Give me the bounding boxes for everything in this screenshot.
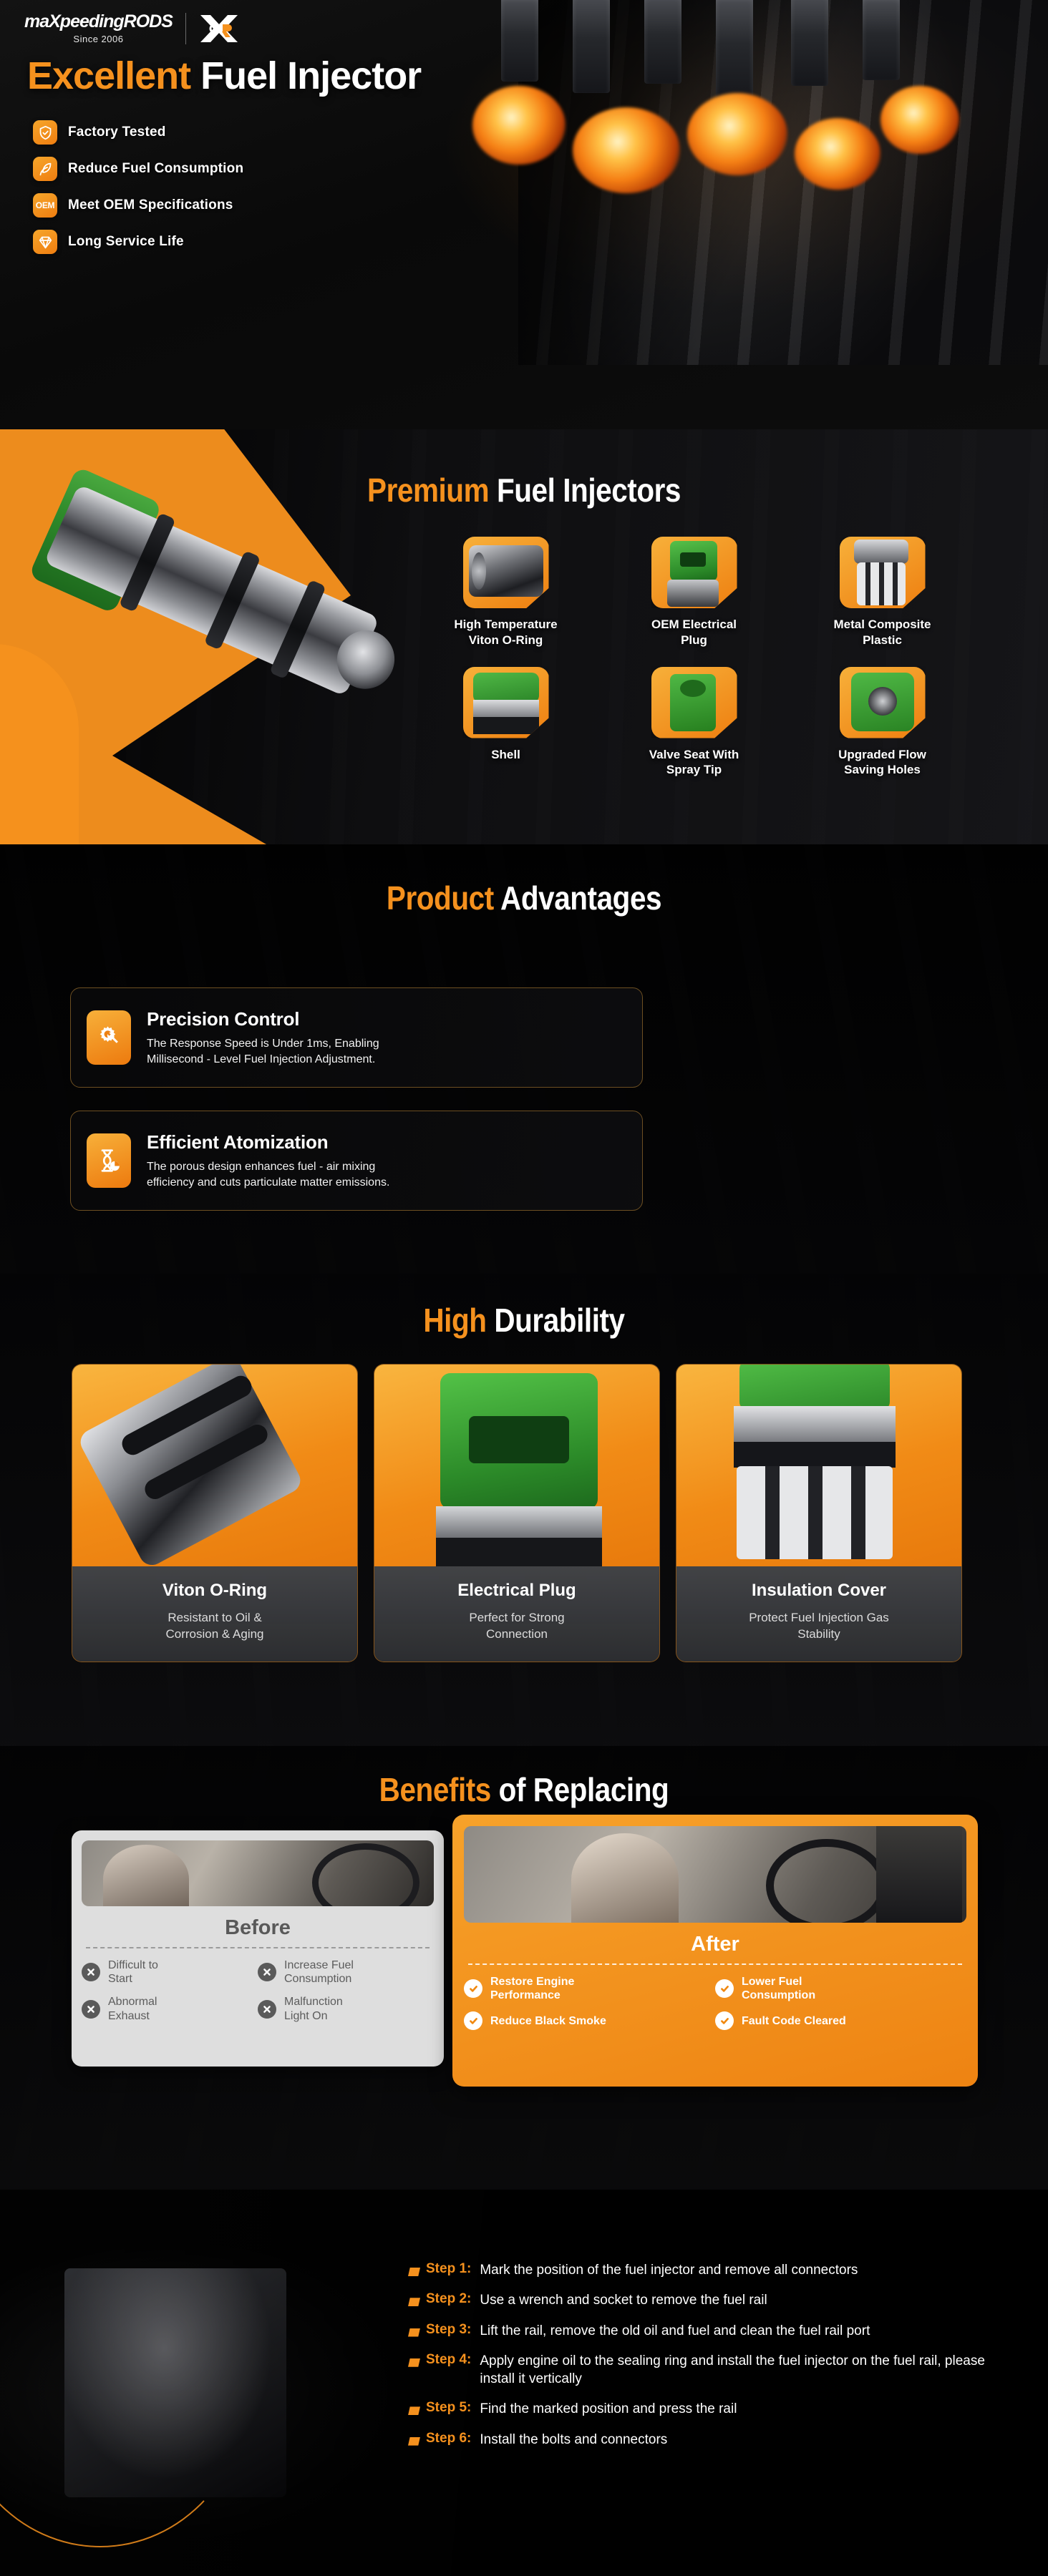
- premium-thumb-item: Upgraded FlowSaving Holes: [806, 667, 959, 779]
- after-item: Reduce Black Smoke: [464, 2011, 715, 2030]
- premium-thumb-item: Metal CompositePlastic: [806, 537, 959, 648]
- page-title: Excellent Fuel Injector: [27, 54, 421, 98]
- premium-thumb-label: Metal CompositePlastic: [806, 617, 959, 648]
- oem-badge-icon: OEM: [33, 193, 57, 218]
- flame-decor: [687, 93, 787, 175]
- premium-thumb-label: OEM ElectricalPlug: [618, 617, 770, 648]
- step-flag-icon: [408, 2406, 420, 2415]
- advantages-title-highlight: Product: [387, 879, 494, 917]
- plug-thumb-icon: [651, 537, 737, 608]
- durability-card-body: Insulation Cover Protect Fuel Injection …: [676, 1566, 961, 1662]
- premium-thumb-label: High TemperatureViton O-Ring: [430, 617, 582, 648]
- durability-card: Electrical Plug Perfect for Strong Conne…: [374, 1364, 660, 1662]
- before-card: Before Difficult toStart Increas: [72, 1830, 444, 2067]
- durability-card: Insulation Cover Protect Fuel Injection …: [676, 1364, 962, 1662]
- durability-text-line2: Corrosion & Aging: [82, 1626, 347, 1643]
- after-item-text: Restore EnginePerformance: [490, 1975, 574, 2002]
- brand-logo-text: maXpeedingRODS: [24, 13, 173, 31]
- frustrated-driver-photo: [82, 1840, 434, 1906]
- installation-step: Step 5: Find the marked position and pre…: [408, 2400, 1002, 2418]
- benefits-title-highlight: Benefits: [379, 1771, 491, 1808]
- hourglass-chart-icon: [87, 1133, 131, 1188]
- durability-card-row: Viton O-Ring Resistant to Oil & Corrosio…: [72, 1364, 962, 1662]
- step-flag-icon: [408, 2358, 420, 2367]
- oring-photo: [72, 1365, 357, 1566]
- hero-feature-label: Long Service Life: [68, 234, 184, 250]
- check-circle-icon: [715, 1979, 734, 1998]
- step-flag-icon: [408, 2328, 420, 2337]
- durability-text-line2: Stability: [686, 1626, 951, 1643]
- brand-logo-since: Since 2006: [24, 34, 173, 44]
- advantage-text-line2: efficiency and cuts particulate matter e…: [147, 1175, 389, 1191]
- step-text: Find the marked position and press the r…: [480, 2400, 737, 2418]
- advantage-text-line2: Millisecond - Level Fuel Injection Adjus…: [147, 1052, 379, 1068]
- benefits-section-title: Benefits of Replacing: [63, 1770, 985, 1809]
- step-number: Step 4:: [426, 2352, 471, 2368]
- premium-thumb-label: Valve Seat WithSpray Tip: [618, 747, 770, 779]
- step-text: Use a wrench and socket to remove the fu…: [480, 2291, 767, 2309]
- durability-card-body: Electrical Plug Perfect for Strong Conne…: [374, 1566, 659, 1662]
- step-text: Install the bolts and connectors: [480, 2431, 667, 2449]
- premium-thumb-item: OEM ElectricalPlug: [618, 537, 770, 648]
- shell-thumb-icon: [463, 667, 549, 738]
- durability-card: Viton O-Ring Resistant to Oil & Corrosio…: [72, 1364, 358, 1662]
- before-item-text: Increase FuelConsumption: [284, 1958, 354, 1986]
- piston-decor: [501, 0, 538, 82]
- after-heading: After: [464, 1933, 966, 1956]
- cross-circle-icon: [82, 1963, 100, 1981]
- step-text: Mark the position of the fuel injector a…: [480, 2261, 858, 2279]
- durability-section-title: High Durability: [63, 1301, 985, 1340]
- before-item: MalfunctionLight On: [258, 1995, 434, 2022]
- hero-feature-label: Meet OEM Specifications: [68, 197, 233, 213]
- happy-driver-photo: [464, 1826, 966, 1923]
- installation-section: Step 1: Mark the position of the fuel in…: [0, 2190, 1048, 2576]
- after-item-text: Lower FuelConsumption: [742, 1975, 815, 2002]
- durability-section: High Durability Viton O-Ring Resistant t…: [0, 1274, 1048, 1746]
- cross-circle-icon: [82, 2000, 100, 2019]
- before-item-text: MalfunctionLight On: [284, 1995, 343, 2022]
- hero-feature-item: Reduce Fuel Consumption: [33, 157, 243, 181]
- premium-thumb-grid: High TemperatureViton O-Ring OEM Electri…: [430, 537, 959, 796]
- advantages-section-title: Product Advantages: [63, 879, 985, 917]
- check-circle-icon: [464, 2011, 482, 2030]
- flame-decor: [880, 86, 959, 154]
- oring-thumb-icon: [463, 537, 549, 608]
- premium-thumb-item: Shell: [430, 667, 582, 779]
- logo-divider: [185, 13, 186, 44]
- hero-title-highlight: Excellent: [27, 54, 190, 97]
- composite-thumb-icon: [840, 537, 926, 608]
- after-divider: [468, 1963, 962, 1965]
- brand-logo: maXpeedingRODS Since 2006: [24, 13, 239, 44]
- step-flag-icon: [408, 2437, 420, 2446]
- premium-thumb-label: Upgraded FlowSaving Holes: [806, 747, 959, 779]
- after-item-text: Fault Code Cleared: [742, 2014, 846, 2028]
- installation-step: Step 4: Apply engine oil to the sealing …: [408, 2352, 1002, 2389]
- hero-feature-item: Factory Tested: [33, 120, 243, 145]
- durability-title-rest: Durability: [494, 1302, 624, 1339]
- durability-heading: Viton O-Ring: [82, 1581, 347, 1601]
- step-number: Step 2:: [426, 2291, 471, 2307]
- hero-title-rest: Fuel Injector: [200, 54, 421, 97]
- advantages-title-rest: Advantages: [500, 879, 661, 917]
- hero-feature-item: OEM Meet OEM Specifications: [33, 193, 243, 218]
- advantage-card: Efficient Atomization The porous design …: [70, 1111, 643, 1211]
- cross-circle-icon: [258, 1963, 276, 1981]
- installation-step: Step 1: Mark the position of the fuel in…: [408, 2261, 1002, 2279]
- advantages-section: Product Advantages Precision Control The…: [0, 844, 1048, 1274]
- premium-thumb-row: Shell Valve Seat WithSpray Tip: [430, 667, 959, 779]
- premium-section: Premium Fuel Injectors High TemperatureV…: [0, 429, 1048, 894]
- advantage-heading: Precision Control: [147, 1008, 379, 1030]
- benefits-section: Benefits of Replacing Before Difficult t…: [0, 1746, 1048, 2190]
- installation-step-list: Step 1: Mark the position of the fuel in…: [408, 2261, 1002, 2461]
- before-heading: Before: [82, 1916, 434, 1940]
- durability-title-highlight: High: [423, 1302, 486, 1339]
- before-item-text: Difficult toStart: [108, 1958, 158, 1986]
- infographic-page: maXpeedingRODS Since 2006 Excellent Fuel…: [0, 0, 1048, 2576]
- valve-thumb-icon: [651, 667, 737, 738]
- durability-text-line1: Protect Fuel Injection Gas: [686, 1610, 951, 1626]
- step-number: Step 3:: [426, 2322, 471, 2338]
- premium-section-title: Premium Fuel Injectors: [63, 471, 985, 509]
- plug-photo: [374, 1365, 659, 1566]
- diamond-icon: [33, 230, 57, 254]
- insulation-photo: [676, 1365, 961, 1566]
- durability-text-line2: Connection: [384, 1626, 649, 1643]
- benefits-title-rest: of Replacing: [499, 1771, 669, 1808]
- piston-decor: [644, 0, 681, 84]
- premium-thumb-item: High TemperatureViton O-Ring: [430, 537, 582, 648]
- after-item-text: Reduce Black Smoke: [490, 2014, 606, 2028]
- before-item: Increase FuelConsumption: [258, 1958, 434, 1986]
- advantage-text-line1: The Response Speed is Under 1ms, Enablin…: [147, 1036, 379, 1052]
- installation-step: Step 3: Lift the rail, remove the old oi…: [408, 2322, 1002, 2340]
- before-item-grid: Difficult toStart Increase FuelConsumpti…: [82, 1958, 434, 2032]
- durability-text-line1: Perfect for Strong: [384, 1610, 649, 1626]
- piston-decor: [573, 0, 610, 93]
- durability-heading: Insulation Cover: [686, 1581, 951, 1601]
- flame-decor: [795, 118, 880, 190]
- check-circle-icon: [464, 1979, 482, 1998]
- shield-check-icon: [33, 120, 57, 145]
- durability-heading: Electrical Plug: [384, 1581, 649, 1601]
- after-item: Restore EnginePerformance: [464, 1975, 715, 2002]
- check-circle-icon: [715, 2011, 734, 2030]
- after-item: Lower FuelConsumption: [715, 1975, 966, 2002]
- step-flag-icon: [408, 2268, 420, 2276]
- after-item: Fault Code Cleared: [715, 2011, 966, 2030]
- piston-decor: [716, 0, 753, 103]
- premium-thumb-item: Valve Seat WithSpray Tip: [618, 667, 770, 779]
- step-number: Step 6:: [426, 2431, 471, 2446]
- durability-card-body: Viton O-Ring Resistant to Oil & Corrosio…: [72, 1566, 357, 1662]
- flame-decor: [573, 107, 680, 193]
- step-number: Step 1:: [426, 2261, 471, 2277]
- leaf-icon: [33, 157, 57, 181]
- oxr-x-mark-icon: [199, 13, 239, 44]
- durability-text-line1: Resistant to Oil &: [82, 1610, 347, 1626]
- piston-decor: [863, 0, 900, 80]
- before-item-text: AbnormalExhaust: [108, 1995, 157, 2022]
- advantage-text-line1: The porous design enhances fuel - air mi…: [147, 1159, 389, 1175]
- after-item-grid: Restore EnginePerformance Lower FuelCons…: [464, 1975, 966, 2039]
- hero-section: maXpeedingRODS Since 2006 Excellent Fuel…: [0, 0, 1048, 429]
- flow-thumb-icon: [840, 667, 926, 738]
- step-text: Lift the rail, remove the old oil and fu…: [480, 2322, 870, 2340]
- premium-thumb-label: Shell: [430, 747, 582, 763]
- cross-circle-icon: [258, 2000, 276, 2019]
- advantage-heading: Efficient Atomization: [147, 1131, 389, 1153]
- piston-decor: [791, 0, 828, 86]
- before-divider: [86, 1947, 430, 1948]
- step-text: Apply engine oil to the sealing ring and…: [480, 2352, 1002, 2389]
- gear-wrench-icon: [87, 1010, 131, 1065]
- installation-step: Step 2: Use a wrench and socket to remov…: [408, 2291, 1002, 2309]
- advantage-card: Precision Control The Response Speed is …: [70, 987, 643, 1088]
- premium-title-highlight: Premium: [367, 472, 489, 509]
- after-card: After Restore EnginePerformance: [452, 1815, 978, 2087]
- mechanic-photo: [64, 2268, 286, 2497]
- installation-step: Step 6: Install the bolts and connectors: [408, 2431, 1002, 2449]
- hero-feature-label: Reduce Fuel Consumption: [68, 161, 243, 177]
- step-flag-icon: [408, 2298, 420, 2306]
- hero-feature-item: Long Service Life: [33, 230, 243, 254]
- hero-feature-list: Factory Tested Reduce Fuel Consumption O…: [33, 120, 243, 266]
- step-number: Step 5:: [426, 2400, 471, 2416]
- before-item: AbnormalExhaust: [82, 1995, 258, 2022]
- hero-feature-label: Factory Tested: [68, 125, 166, 140]
- premium-title-rest: Fuel Injectors: [497, 472, 681, 509]
- before-item: Difficult toStart: [82, 1958, 258, 1986]
- flame-decor: [472, 86, 566, 165]
- premium-thumb-row: High TemperatureViton O-Ring OEM Electri…: [430, 537, 959, 648]
